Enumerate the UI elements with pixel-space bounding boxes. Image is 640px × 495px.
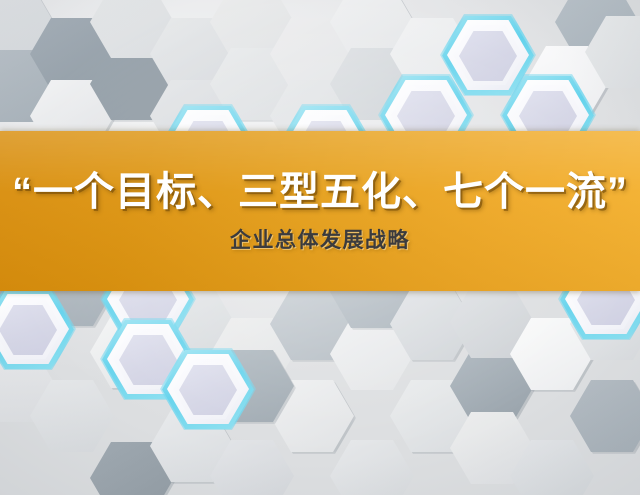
slide-title: “一个目标、三型五化、七个一流” [12, 172, 628, 212]
slide-subtitle: 企业总体发展战略 [230, 230, 410, 251]
hexagon-tile [330, 440, 414, 495]
hexagon-tile [570, 380, 640, 452]
title-banner: “一个目标、三型五化、七个一流” 企业总体发展战略 [0, 131, 640, 291]
slide-canvas: “一个目标、三型五化、七个一流” 企业总体发展战略 [0, 0, 640, 495]
